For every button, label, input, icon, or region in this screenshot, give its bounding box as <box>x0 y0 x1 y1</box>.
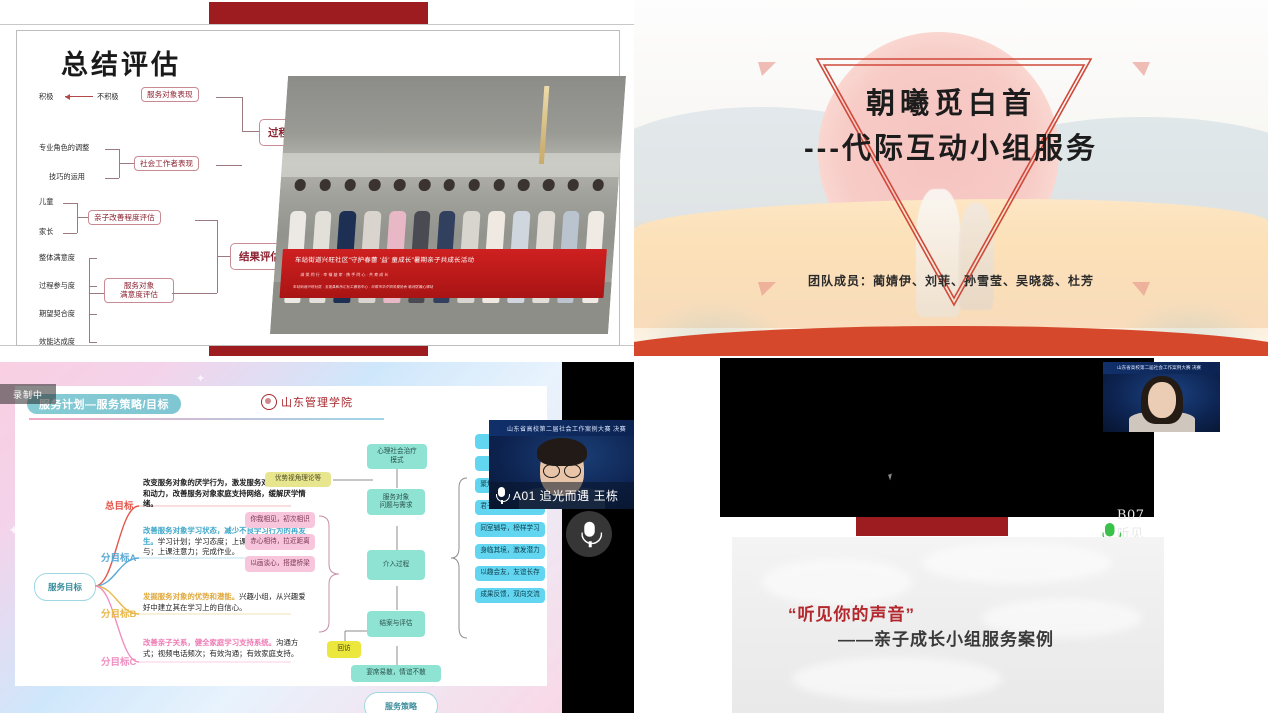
page-subtitle: ---代际互动小组服务 <box>634 125 1268 167</box>
connector <box>89 258 97 259</box>
mindmap-level-label: 总目标 <box>105 498 134 512</box>
leaf-overall-satisfaction: 整体满意度 <box>39 253 75 263</box>
screen-share-panel: 山东省高校第二届社会工作案例大赛 决赛 B07听见你… “听见你的声音” ——亲… <box>634 356 1268 713</box>
silhouette-figure-right <box>959 203 994 310</box>
bottom-red-band <box>209 345 428 356</box>
connector <box>105 149 119 150</box>
flow-node-intervention: 介入过程 <box>367 550 425 580</box>
connector <box>89 293 105 294</box>
recording-badge: 录制中 <box>0 384 56 404</box>
group-photo: 车站街道兴旺社区“守护春蕾 ‘益’ 童成长”暑期亲子共成长活动 滋 爱 同 行 … <box>270 76 626 334</box>
leaf-process-participation: 过程参与度 <box>39 281 75 291</box>
mindmap-level-label: 分目标A <box>101 550 136 564</box>
school-logo: 山东管理学院 <box>261 394 353 410</box>
photo-banner-main: 车站街道兴旺社区“守护春蕾 ‘益’ 童成长”暑期亲子共成长活动 <box>294 254 594 271</box>
cloud-decoration <box>792 657 1002 701</box>
team-members-line: 团队成员：蔺婧伊、刘菲、孙雪莹、吴晓蕊、杜芳 <box>634 272 1268 289</box>
mindmap-row-highlight: 改善亲子关系，健全家庭学习支持系统。 <box>143 638 276 647</box>
stage-box: 赤心相待，拉近距离 <box>245 534 315 550</box>
red-band <box>856 517 1008 536</box>
mindmap-row-text: 改善亲子关系，健全家庭学习支持系统。沟通方式；视频电话频次；有效沟通；有效家庭支… <box>143 638 309 659</box>
activity-box: 以趣会友，友谊长存 <box>475 566 545 581</box>
mindmap-root-node: 服务目标 <box>34 573 96 601</box>
dark-share-area: 山东省高校第二届社会工作案例大赛 决赛 B07听见你… <box>720 358 1154 517</box>
flow-node-line2: 问题与需求 <box>380 502 413 510</box>
arrow-label-active: 积极 <box>39 92 53 102</box>
meeting-backdrop: ✦ ✦ ✦ ✦ 服务计划—服务策略/目标 山东管理学院 服务目标 <box>0 362 562 713</box>
connector <box>89 342 97 343</box>
speaker-face <box>1148 382 1176 418</box>
activity-box: 成果反馈，双向交流 <box>475 588 545 603</box>
cloud-decoration <box>922 543 1112 583</box>
school-logo-text: 山东管理学院 <box>281 394 353 410</box>
flow-node-line2: 模式 <box>390 457 403 465</box>
glasses-icon <box>543 464 581 476</box>
leaf-children: 儿童 <box>39 197 53 207</box>
photo-banner-sub: 滋 爱 同 行 · 幸 福 益 家 · 携 手 同 心 · 共 育 成 长 <box>300 272 586 278</box>
speaker-hair <box>537 438 587 466</box>
summary-evaluation-slide-panel: 总结评估 积极 不积极 服务对象表现 专业角色的调整 技巧的运用 社会工作者表现 <box>0 0 634 356</box>
project-title-slide-panel: 朝曦觅白首 ---代际互动小组服务 团队成员：蔺婧伊、刘菲、孙雪莹、吴晓蕊、杜芳 <box>634 0 1268 356</box>
arrow-label-inactive: 不积极 <box>97 92 119 102</box>
school-seal-icon <box>261 394 277 410</box>
competition-banner-text: 山东省高校第二届社会工作案例大赛 决赛 <box>489 420 634 436</box>
mindmap-row-text: 发掘服务对象的优势和潜能。兴趣小组，从兴趣爱好中建立其在学习上的自信心。 <box>143 592 309 613</box>
node-satisfaction-evaluation: 服务对象 满意度评估 <box>104 278 174 303</box>
connector <box>119 163 135 164</box>
photo-wall-stripe <box>281 153 621 176</box>
competition-banner-text: 山东省高校第二届社会工作案例大赛 决赛 <box>1103 362 1220 374</box>
speaker-name: A01 追光而遇 王栋 <box>513 487 619 504</box>
connector <box>89 314 97 315</box>
sparkle-icon: ✦ <box>196 372 205 385</box>
photo-banner: 车站街道兴旺社区“守护春蕾 ‘益’ 童成长”暑期亲子共成长活动 滋 爱 同 行 … <box>279 249 607 298</box>
leaf-parents: 家长 <box>39 227 53 237</box>
flow-node-closure-evaluation: 结案与评估 <box>367 611 425 637</box>
mindmap-row-highlight: 发掘服务对象的优势和潜能。 <box>143 592 239 601</box>
connector <box>242 97 243 131</box>
connector <box>89 258 90 342</box>
slide-canvas: 服务计划—服务策略/目标 山东管理学院 服务目标 <box>15 386 547 686</box>
microphone-icon <box>579 521 599 547</box>
leaf-role-adjustment: 专业角色的调整 <box>39 143 89 153</box>
mindmap-level-label: 分目标B <box>101 606 136 620</box>
connector <box>89 286 97 287</box>
left-arrow-icon <box>65 96 93 97</box>
leaf-skill-application: 技巧的运用 <box>49 172 85 182</box>
node-social-worker-performance: 社会工作者表现 <box>134 156 199 171</box>
connector <box>105 178 119 179</box>
page-title: 朝曦觅白首 <box>634 84 1268 124</box>
photo-banner-small: 车站街道兴旺社区 · 五莲县和乐汇社工服务中心 · 日照市华夕阳关爱协会 临河区… <box>293 285 592 290</box>
strategy-node: 服务策略 <box>364 692 438 713</box>
header-rule <box>29 418 384 420</box>
activity-box: 身临其境，激发潜力 <box>475 544 545 559</box>
evaluation-diagram: 积极 不积极 服务对象表现 专业角色的调整 技巧的运用 社会工作者表现 过程评估 <box>17 31 279 345</box>
connector <box>216 97 242 98</box>
speaker-video-thumbnail[interactable]: 山东省高校第二届社会工作案例大赛 决赛 <box>1103 362 1220 432</box>
mindmap-level-label: 分目标C <box>101 654 136 668</box>
connector <box>216 165 242 166</box>
slide-canvas: 总结评估 积极 不积极 服务对象表现 专业角色的调整 技巧的运用 社会工作者表现 <box>16 30 620 346</box>
connector <box>77 203 78 233</box>
leaf-efficacy-attainment: 效能达成度 <box>39 337 75 347</box>
stage-box: 你我相见，初次相识 <box>245 512 315 528</box>
node-parent-child-improvement: 亲子改善程度评估 <box>88 210 161 225</box>
microphone-icon <box>495 487 508 504</box>
node-satisfaction-line2: 满意度评估 <box>110 290 168 299</box>
case-title: “听见你的声音” <box>788 600 915 625</box>
leaf-expectation-fit: 期望契合度 <box>39 309 75 319</box>
case-subtitle: ——亲子成长小组服务案例 <box>838 625 1054 650</box>
speaker-name-bar: A01 追光而遇 王栋 <box>489 482 634 509</box>
flow-node-line1: 服务对象 <box>383 494 409 502</box>
connector <box>63 203 77 204</box>
screenshot-canvas: 总结评估 积极 不积极 服务对象表现 专业角色的调整 技巧的运用 社会工作者表现 <box>0 0 1268 713</box>
flow-tag-theory: 优势视角理论等 <box>265 472 331 487</box>
microphone-button-icon[interactable] <box>566 511 612 557</box>
connector <box>172 293 217 294</box>
cloud-decoration <box>762 559 912 605</box>
connector <box>195 220 217 221</box>
flow-node-line1: 心理社会治疗 <box>377 448 417 456</box>
activity-box: 同室辅导，榜样学习 <box>475 522 545 537</box>
stage-box: 以画谈心，搭建桥梁 <box>245 556 315 572</box>
connector <box>242 131 260 132</box>
flow-node-followup: 回访 <box>327 641 361 658</box>
service-plan-slide-panel: ✦ ✦ ✦ ✦ 服务计划—服务策略/目标 山东管理学院 服务目标 <box>0 356 634 713</box>
silhouette-figure-left <box>916 189 960 317</box>
flow-node-needs: 服务对象 问题与需求 <box>367 489 425 515</box>
top-red-band <box>209 2 428 24</box>
node-service-object-performance: 服务对象表现 <box>141 87 199 102</box>
flow-node-treatment-model: 心理社会治疗 模式 <box>367 444 427 469</box>
connector <box>217 256 231 257</box>
connector <box>63 233 77 234</box>
case-title-slide: “听见你的声音” ——亲子成长小组服务案例 <box>732 537 1164 713</box>
top-divider <box>0 24 634 25</box>
